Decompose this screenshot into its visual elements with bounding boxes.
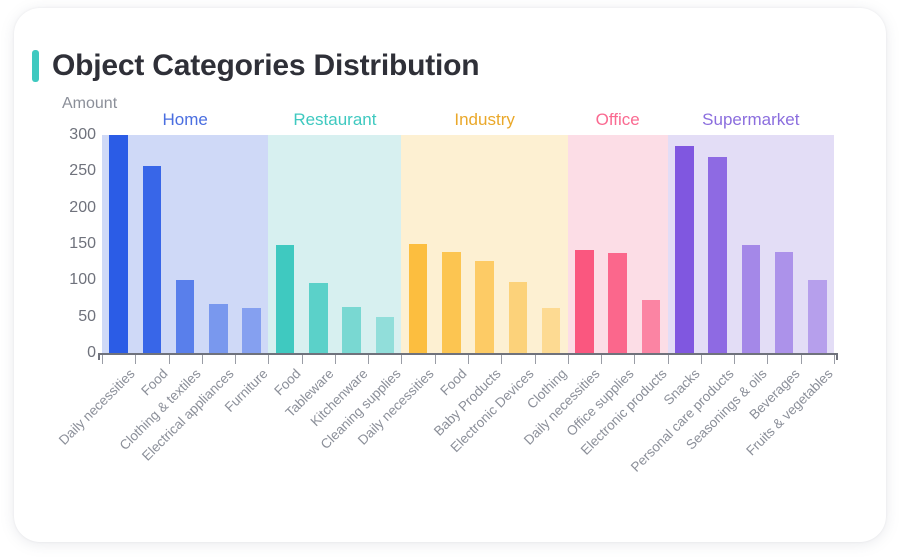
bar-supermarket-1[interactable] [708,157,727,353]
bar-office-1[interactable] [608,253,627,353]
y-tick-label: 100 [69,271,96,289]
x-tick-mark [235,355,236,364]
x-tick-mark [834,355,835,364]
bar-industry-4[interactable] [542,308,561,353]
page-title: Object Categories Distribution [52,49,479,83]
y-tick-label: 250 [69,162,96,180]
y-tick-label: 300 [69,126,96,144]
y-tick-label: 0 [87,344,96,362]
bar-industry-0[interactable] [409,244,428,353]
x-tick-mark [601,355,602,364]
title-accent-bar [32,50,39,82]
bar-home-2[interactable] [176,280,195,353]
x-tick-mark [268,355,269,364]
x-axis-tick-labels: Daily necessitiesFoodClothing & textiles… [102,360,834,530]
x-tick-mark [401,355,402,364]
x-tick-mark [634,355,635,364]
x-tick-mark [668,355,669,364]
bar-industry-2[interactable] [475,261,494,353]
x-tick-mark [767,355,768,364]
bar-home-0[interactable] [109,135,128,353]
y-tick-label: 200 [69,199,96,217]
bar-home-1[interactable] [143,166,162,353]
x-tick-mark [468,355,469,364]
bar-restaurant-3[interactable] [376,317,395,353]
y-tick-label: 50 [78,308,96,326]
bar-supermarket-3[interactable] [775,252,794,353]
x-tick-mark [302,355,303,364]
x-tick-mark [202,355,203,364]
y-tick-label: 150 [69,235,96,253]
title-row: Object Categories Distribution [32,46,479,86]
bar-restaurant-0[interactable] [276,245,295,353]
bar-home-3[interactable] [209,304,228,353]
x-tick-mark [501,355,502,364]
x-tick-mark [568,355,569,364]
x-tick-mark [701,355,702,364]
x-tick-mark [102,355,103,364]
x-tick-mark [169,355,170,364]
group-label-office: Office [596,110,640,130]
bar-supermarket-2[interactable] [742,245,761,353]
y-axis-tick-labels: 300250200150100500 [58,135,96,353]
y-axis-title: Amount [62,95,117,113]
group-label-home: Home [162,110,207,130]
x-axis-cap-left [98,353,100,360]
x-axis-cap-right [836,353,838,360]
x-tick-mark [435,355,436,364]
x-tick-mark [535,355,536,364]
bar-supermarket-0[interactable] [675,146,694,353]
chart-screenshot: Object Categories Distribution Amount 30… [0,0,900,559]
x-tick-mark [335,355,336,364]
bar-office-2[interactable] [642,300,661,353]
x-tick-mark [734,355,735,364]
bar-restaurant-1[interactable] [309,283,328,353]
x-tick-mark [801,355,802,364]
x-tick-mark [135,355,136,364]
bar-supermarket-4[interactable] [808,280,827,353]
group-label-supermarket: Supermarket [702,110,799,130]
bar-industry-3[interactable] [509,282,528,353]
chart-card: Object Categories Distribution Amount 30… [14,8,886,542]
x-tick-mark [368,355,369,364]
bar-office-0[interactable] [575,250,594,353]
bar-restaurant-2[interactable] [342,307,361,353]
group-label-restaurant: Restaurant [293,110,376,130]
bar-home-4[interactable] [242,308,261,353]
group-label-industry: Industry [454,110,514,130]
bar-industry-1[interactable] [442,252,461,353]
plot-area [102,135,834,353]
